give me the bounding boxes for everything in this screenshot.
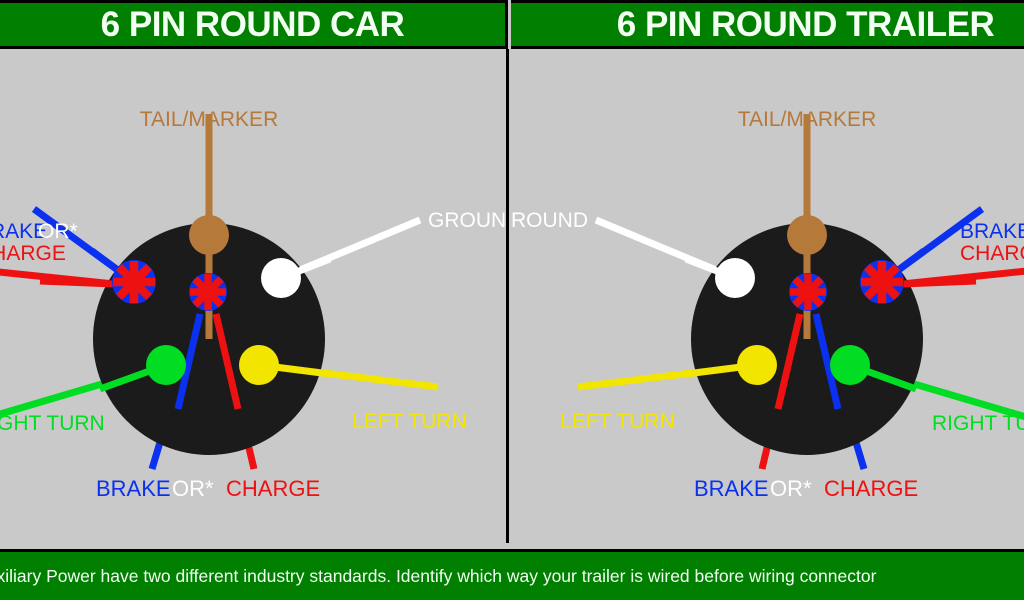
pin-tail-marker[interactable] — [787, 215, 827, 255]
panel-title-trailer: 6 PIN ROUND TRAILER — [617, 7, 994, 42]
label-charge-center: CHARGE — [226, 476, 320, 501]
label-tail-marker: TAIL/MARKER — [140, 108, 278, 131]
label-brake-upper: BRAKE — [960, 220, 1024, 243]
label-left-turn: LEFT TURN — [352, 410, 467, 433]
label-charge-upper: CHARGE — [0, 242, 66, 265]
pin-brake-charge-center[interactable] — [789, 273, 827, 311]
label-charge-center: CHARGE — [824, 476, 918, 501]
pin-left-turn[interactable] — [239, 345, 279, 385]
pin-left-turn[interactable] — [737, 345, 777, 385]
pin-tail-marker[interactable] — [189, 215, 229, 255]
label-or-upper: OR* — [38, 220, 78, 243]
header-bar-trailer: 6 PIN ROUND TRAILER — [511, 0, 1024, 49]
pin-brake-charge-upper[interactable] — [112, 260, 156, 304]
footer-caption-text: and Auxiliary Power have two different i… — [0, 566, 876, 587]
label-ground: GROUND — [512, 209, 588, 232]
diagram-panel-car: TAIL/MARKER GROUND RIGHT TURN LEFT TURN … — [0, 49, 509, 543]
diagram-panel-trailer: TAIL/MARKER GROUND RIGHT TURN LEFT TURN … — [512, 49, 1024, 543]
label-brake-center: BRAKE — [96, 476, 171, 501]
pin-right-turn[interactable] — [146, 345, 186, 385]
header-bar-car: 6 PIN ROUND CAR — [0, 0, 508, 49]
label-right-turn: RIGHT TURN — [932, 412, 1024, 435]
wire-charge-upper-inner — [902, 281, 976, 284]
car-connector-diagram: TAIL/MARKER GROUND RIGHT TURN LEFT TURN … — [0, 49, 509, 543]
label-ground: GROUND — [428, 209, 509, 232]
trailer-connector-diagram: TAIL/MARKER GROUND RIGHT TURN LEFT TURN … — [512, 49, 1024, 543]
label-left-turn: LEFT TURN — [560, 410, 675, 433]
label-brake-center: BRAKE — [694, 476, 769, 501]
label-or-center: OR* — [172, 476, 214, 501]
pin-brake-charge-upper[interactable] — [860, 260, 904, 304]
wiring-diagram-page: 6 PIN ROUND CAR 6 PIN ROUND TRAILER — [0, 0, 1024, 600]
label-tail-marker: TAIL/MARKER — [738, 108, 876, 131]
pin-right-turn[interactable] — [830, 345, 870, 385]
footer-caption-bar: and Auxiliary Power have two different i… — [0, 549, 1024, 600]
label-right-turn: RIGHT TURN — [0, 412, 105, 435]
label-or-center: OR* — [770, 476, 812, 501]
pin-ground[interactable] — [715, 258, 755, 298]
label-charge-upper: CHARGE — [960, 242, 1024, 265]
wire-charge-upper-inner — [40, 281, 114, 284]
pin-brake-charge-center[interactable] — [189, 273, 227, 311]
pin-ground[interactable] — [261, 258, 301, 298]
panel-title-car: 6 PIN ROUND CAR — [101, 7, 405, 42]
